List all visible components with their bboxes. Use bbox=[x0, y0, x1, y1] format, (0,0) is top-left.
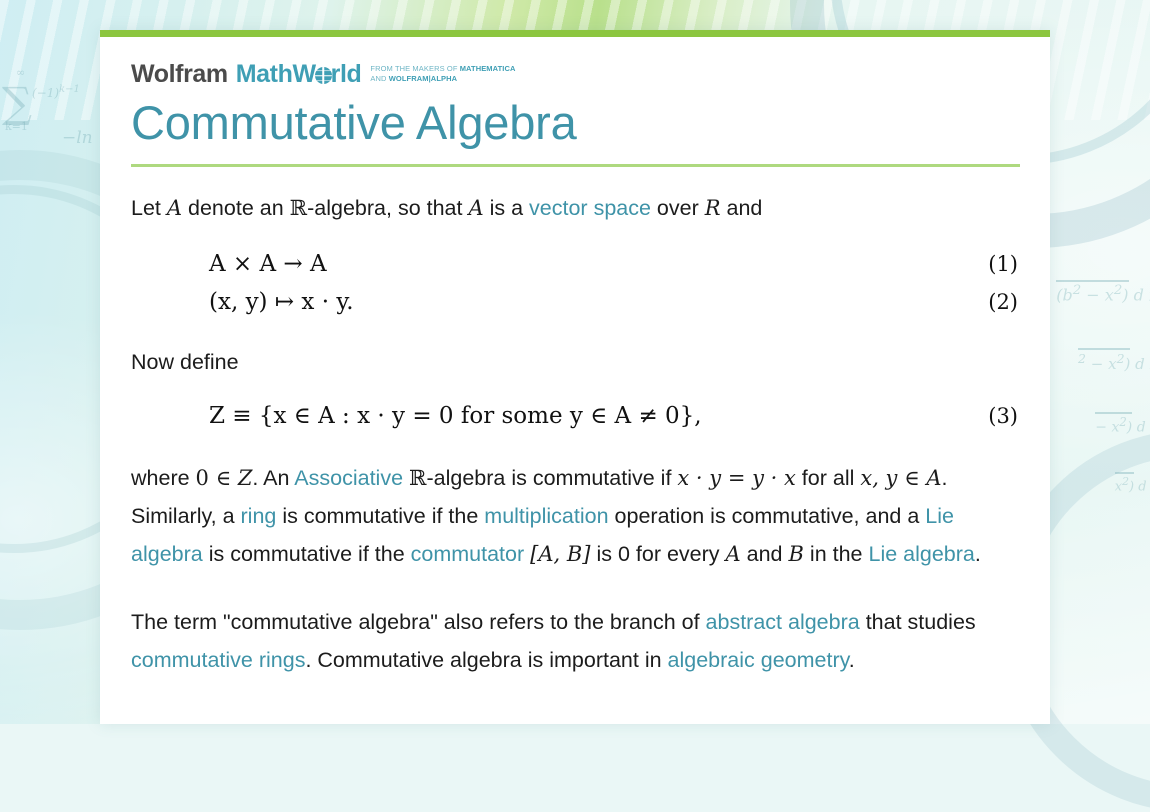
background-formula-integral: 2 − x2) d x bbox=[1078, 348, 1150, 373]
link-lie-algebra[interactable]: Lie algebra bbox=[868, 542, 974, 566]
text-fragment: . Commutative algebra is important in bbox=[305, 648, 667, 672]
site-logo[interactable]: Wolfram MathWrld FROM THE MAKERS OF MATH… bbox=[131, 61, 1020, 87]
math-symbol: B bbox=[789, 542, 804, 566]
math-symbol: A bbox=[167, 196, 182, 220]
text-fragment: and bbox=[741, 542, 789, 566]
equation-number: (2) bbox=[958, 283, 1020, 321]
background-formula-integral: (b2 − x2) d x bbox=[1056, 280, 1150, 304]
logo-wolfram-text: Wolfram bbox=[131, 61, 228, 87]
text-fragment: is commutative if the bbox=[276, 504, 484, 528]
card-top-accent-bar bbox=[100, 30, 1050, 37]
link-abstract-algebra[interactable]: abstract algebra bbox=[706, 610, 860, 634]
paragraph-definitions: where 0 ∈ Z. An Associative ℝ-algebra is… bbox=[131, 459, 1020, 573]
equation-group-1: A × A → A (1) (x, y) ↦ x · y. (2) bbox=[131, 245, 1020, 321]
article-body: Let A denote an ℝ-algebra, so that A is … bbox=[131, 167, 1020, 679]
card-inner: Wolfram MathWrld FROM THE MAKERS OF MATH… bbox=[100, 37, 1050, 679]
text-fragment: is commutative if the bbox=[203, 542, 411, 566]
logo-mathworld-prefix: MathW bbox=[236, 60, 316, 88]
link-algebraic-geometry[interactable]: algebraic geometry bbox=[668, 648, 849, 672]
link-associative[interactable]: Associative bbox=[294, 466, 403, 490]
summation-upper-limit: ∞ bbox=[16, 66, 25, 79]
page-title: Commutative Algebra bbox=[131, 97, 1020, 150]
math-symbol: ℝ bbox=[409, 466, 426, 490]
text-fragment: Let bbox=[131, 196, 167, 220]
text-fragment: over bbox=[651, 196, 705, 220]
paragraph-intro: Let A denote an ℝ-algebra, so that A is … bbox=[131, 189, 1020, 227]
math-symbol: Z bbox=[238, 466, 253, 490]
background-formula-ln: −ln bbox=[62, 128, 93, 148]
math-symbol: A bbox=[726, 542, 741, 566]
math-symbol: A bbox=[468, 196, 483, 220]
math-symbol: ℝ bbox=[290, 196, 307, 220]
text-fragment: . bbox=[975, 542, 981, 566]
equation-body: Z ≡ {x ∈ A : x · y = 0 for some y ∈ A ≠ … bbox=[131, 397, 958, 435]
text-fragment: in the bbox=[804, 542, 869, 566]
text-fragment: is 0 for every bbox=[590, 542, 725, 566]
text-fragment: denote an bbox=[182, 196, 290, 220]
math-symbol: R bbox=[705, 196, 721, 220]
text-fragment: -algebra, so that bbox=[307, 196, 468, 220]
tagline-line1-bold: MATHEMATICA bbox=[460, 64, 516, 73]
text-fragment: The term "commutative algebra" also refe… bbox=[131, 610, 706, 634]
text-fragment: operation is commutative, and a bbox=[609, 504, 926, 528]
logo-mathworld-text: MathWrld bbox=[236, 61, 362, 87]
math-expression: x, y ∈ A bbox=[860, 466, 941, 490]
text-fragment: where bbox=[131, 466, 196, 490]
link-vector-space[interactable]: vector space bbox=[529, 196, 651, 220]
math-expression: x · y = y · x bbox=[677, 466, 795, 490]
equation-number: (1) bbox=[958, 245, 1020, 283]
equation-row: Z ≡ {x ∈ A : x · y = 0 for some y ∈ A ≠ … bbox=[131, 397, 1020, 435]
paragraph-now-define: Now define bbox=[131, 343, 1020, 381]
text-fragment: . bbox=[849, 648, 855, 672]
text-fragment: -algebra is commutative if bbox=[426, 466, 677, 490]
background-formula-integral: x2) d x bbox=[1115, 472, 1150, 494]
text-fragment: that studies bbox=[860, 610, 976, 634]
text-fragment: and bbox=[721, 196, 763, 220]
equation-row: A × A → A (1) bbox=[131, 245, 1020, 283]
math-symbol: 0 bbox=[196, 466, 209, 490]
text-fragment: for all bbox=[796, 466, 861, 490]
tagline-line2-bold: WOLFRAM|ALPHA bbox=[389, 74, 457, 83]
link-commutator[interactable]: commutator bbox=[411, 542, 525, 566]
link-ring[interactable]: ring bbox=[241, 504, 277, 528]
content-card: Wolfram MathWrld FROM THE MAKERS OF MATH… bbox=[100, 30, 1050, 724]
logo-tagline: FROM THE MAKERS OF MATHEMATICA AND WOLFR… bbox=[370, 64, 515, 83]
text-fragment: is a bbox=[484, 196, 529, 220]
equation-body: A × A → A bbox=[131, 245, 958, 283]
equation-row: (x, y) ↦ x · y. (2) bbox=[131, 283, 1020, 321]
math-symbol: ∈ bbox=[209, 466, 238, 490]
summation-lower-limit: k=1 bbox=[5, 120, 28, 133]
equation-number: (3) bbox=[958, 397, 1020, 435]
link-commutative-rings[interactable]: commutative rings bbox=[131, 648, 305, 672]
text-fragment: . An bbox=[252, 466, 294, 490]
tagline-line1-light: FROM THE MAKERS OF bbox=[370, 64, 459, 73]
equation-body: (x, y) ↦ x · y. bbox=[131, 283, 958, 321]
math-expression: [A, B] bbox=[530, 542, 590, 566]
equation-group-3: Z ≡ {x ∈ A : x · y = 0 for some y ∈ A ≠ … bbox=[131, 397, 1020, 435]
globe-icon bbox=[315, 67, 332, 84]
logo-mathworld-suffix: rld bbox=[331, 60, 362, 88]
tagline-line2-light: AND bbox=[370, 74, 388, 83]
link-multiplication[interactable]: multiplication bbox=[484, 504, 608, 528]
paragraph-term: The term "commutative algebra" also refe… bbox=[131, 603, 1020, 679]
background-formula-integral: − x2) d x bbox=[1095, 412, 1150, 436]
background-formula-summation: ∞ ∑(−1)k−1 k=1 bbox=[2, 78, 80, 127]
